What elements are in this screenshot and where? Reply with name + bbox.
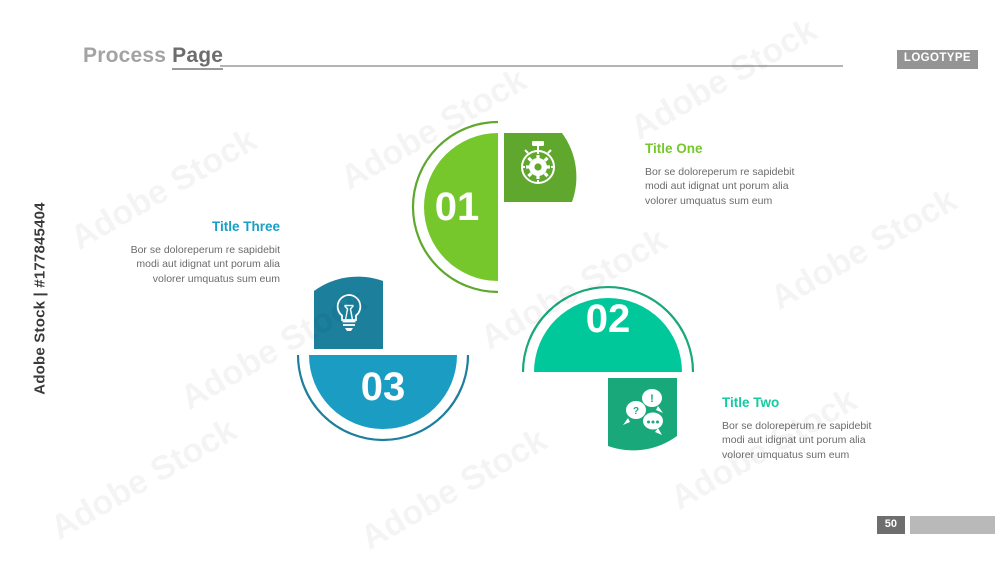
segment-03-icon-wedge[interactable] <box>314 277 383 349</box>
page-title-secondary: Page <box>172 44 223 70</box>
callout-two-body: Bor se doloreperum re sapidebit modi aut… <box>722 419 972 464</box>
segment-01-number: 01 <box>435 185 480 229</box>
callout-three-body: Bor se doloreperum re sapidebit modi aut… <box>28 243 280 288</box>
logotype-badge: LOGOTYPE <box>897 50 978 69</box>
callout-title-three: Title Three Bor se doloreperum re sapide… <box>28 220 280 287</box>
callout-one-title: Title One <box>645 142 895 156</box>
callout-title-two: Title Two Bor se doloreperum re sapidebi… <box>722 396 972 463</box>
slide-canvas: Process Page LOGOTYPE 01 <box>0 0 1000 562</box>
page-title: Process Page <box>83 44 223 68</box>
segment-02-number: 02 <box>586 297 631 341</box>
callout-title-one: Title One Bor se doloreperum re sapidebi… <box>645 142 895 209</box>
page-number-badge: 50 <box>877 516 905 534</box>
svg-text:!: ! <box>650 393 654 405</box>
svg-text:?: ? <box>633 406 639 417</box>
callout-one-body: Bor se doloreperum re sapidebit modi aut… <box>645 165 895 210</box>
callout-three-title: Title Three <box>28 220 280 234</box>
process-cycle-diagram: 01 <box>270 100 700 470</box>
segment-03-number: 03 <box>361 365 406 409</box>
watermark-tile: Adobe Stock <box>44 411 243 549</box>
callout-two-title: Title Two <box>722 396 972 410</box>
slide-header: Process Page LOGOTYPE <box>0 0 1000 92</box>
segment-02-group[interactable]: 02 ? ! <box>523 287 693 450</box>
footer-accent-bar <box>910 516 995 534</box>
header-divider <box>220 65 843 67</box>
segment-03-group[interactable]: 03 <box>298 277 468 440</box>
page-title-primary: Process <box>83 44 172 67</box>
stock-watermark-sidebar: Adobe Stock | #177845404 <box>32 169 49 429</box>
segment-01-group[interactable]: 01 <box>413 122 576 292</box>
